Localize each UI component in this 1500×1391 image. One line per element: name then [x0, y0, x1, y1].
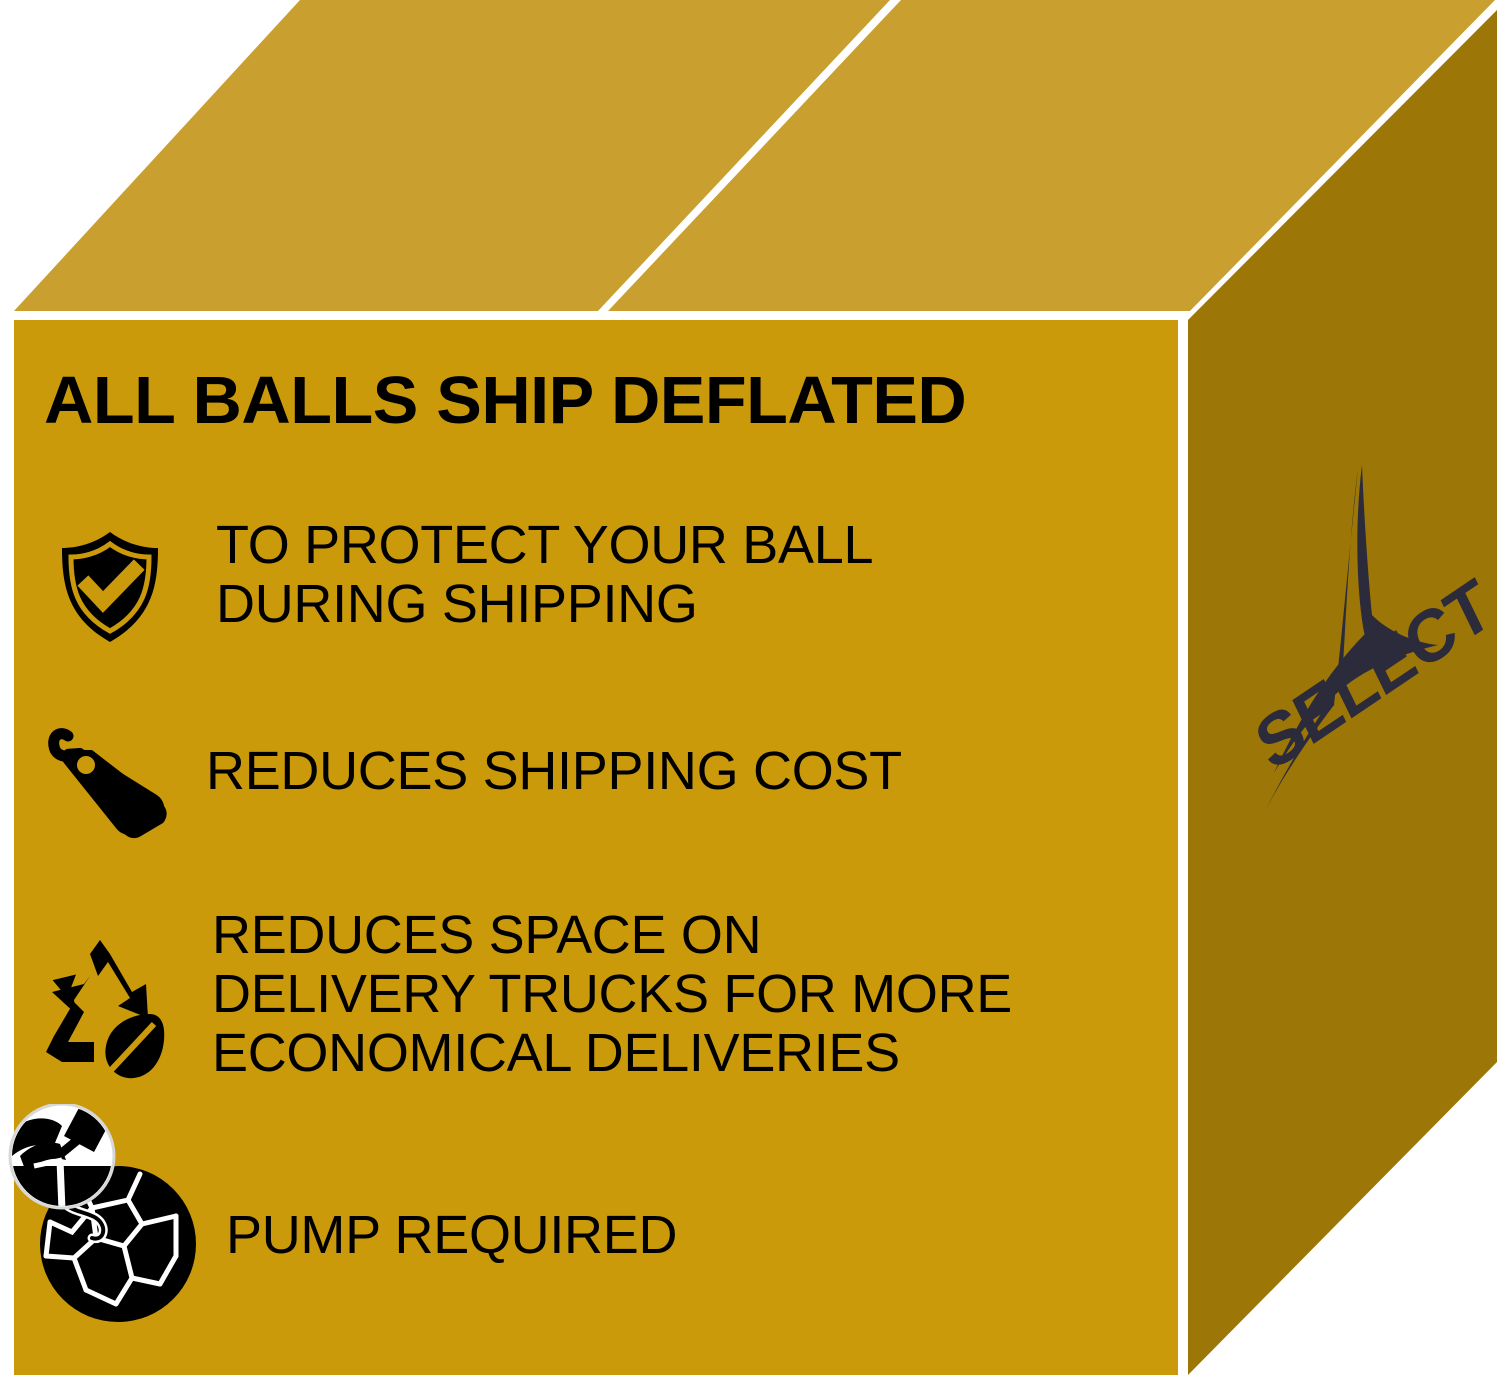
ball-pump-icon	[0, 1104, 210, 1329]
benefit-row-space: REDUCES SPACE ON DELIVERY TRUCKS FOR MOR…	[14, 910, 1178, 1093]
page-title: ALL BALLS SHIP DEFLATED	[44, 367, 966, 434]
benefit-label-cost: REDUCES SHIPPING COST	[206, 742, 902, 801]
benefit-row-protect: TO PROTECT YOUR BALL DURING SHIPPING	[14, 520, 1178, 651]
shield-check-icon	[50, 526, 170, 651]
benefit-label-protect: TO PROTECT YOUR BALL DURING SHIPPING	[216, 516, 873, 634]
price-tag-icon	[44, 724, 174, 847]
benefit-row-pump: PUMP REQUIRED	[14, 1110, 1178, 1329]
benefit-label-pump: PUMP REQUIRED	[226, 1206, 677, 1265]
benefit-row-cost: REDUCES SHIPPING COST	[14, 720, 1178, 847]
benefit-label-space: REDUCES SPACE ON DELIVERY TRUCKS FOR MOR…	[212, 906, 1012, 1083]
front-panel-content: ALL BALLS SHIP DEFLATED TO PROTECT YOUR …	[14, 320, 1178, 1375]
package-illustration: ALL BALLS SHIP DEFLATED TO PROTECT YOUR …	[0, 0, 1500, 1391]
recycle-leaf-icon	[28, 936, 188, 1093]
